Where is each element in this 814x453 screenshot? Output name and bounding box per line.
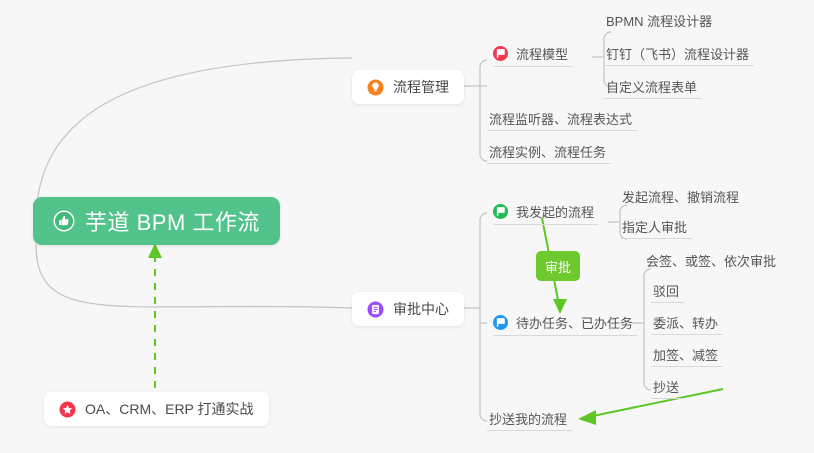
leaf-label: 驳回: [653, 281, 679, 300]
leaf-countersign[interactable]: 会签、或签、依次审批: [644, 248, 781, 273]
bracket-approval-center: [480, 213, 487, 421]
mindmap-canvas: 芋道 BPM 工作流 流程管理 流程模型 BPMN 流程设计器 钉钉（飞书）流程…: [0, 0, 814, 453]
branch-approval-center[interactable]: 审批中心: [352, 292, 464, 326]
leaf-label: 抄送: [653, 377, 679, 396]
integration-card-label: OA、CRM、ERP 打通实战: [85, 399, 254, 419]
node-flow-model[interactable]: 流程模型: [493, 41, 572, 67]
branch-process-management[interactable]: 流程管理: [352, 70, 464, 104]
integration-card[interactable]: OA、CRM、ERP 打通实战: [44, 392, 269, 426]
leaf-bpmn-designer[interactable]: BPMN 流程设计器: [604, 8, 717, 33]
lightbulb-icon: [367, 79, 384, 96]
leaf-instance-task[interactable]: 流程实例、流程任务: [487, 139, 611, 164]
leaf-label: 会签、或签、依次审批: [646, 251, 776, 270]
star-icon: [59, 401, 76, 418]
integration-arrowhead: [148, 243, 162, 258]
leaf-listener-expression[interactable]: 流程监听器、流程表达式: [487, 106, 637, 131]
leaf-label: 钉钉（飞书）流程设计器: [606, 44, 749, 63]
document-icon: [367, 301, 384, 318]
bracket-todo-tasks: [644, 269, 651, 390]
root-node[interactable]: 芋道 BPM 工作流: [33, 197, 280, 245]
node-label: 我发起的流程: [516, 202, 594, 221]
leaf-label: BPMN 流程设计器: [606, 11, 712, 30]
leaf-label: 自定义流程表单: [606, 77, 697, 96]
leaf-label: 指定人审批: [622, 217, 687, 236]
branch-label: 审批中心: [393, 299, 449, 319]
leaf-assignee-approval[interactable]: 指定人审批: [620, 214, 692, 239]
leaf-label: 抄送我的流程: [489, 409, 567, 428]
leaf-label: 发起流程、撤销流程: [622, 187, 739, 206]
flag-icon: [493, 315, 508, 330]
approval-tag-label: 审批: [545, 257, 571, 276]
bracket-process-management: [480, 60, 487, 161]
flag-icon: [493, 46, 508, 61]
node-label: 待办任务、已办任务: [516, 313, 633, 332]
flag-icon: [493, 204, 508, 219]
leaf-reject[interactable]: 驳回: [651, 278, 684, 303]
leaf-add-remove-sign[interactable]: 加签、减签: [651, 342, 723, 367]
thumbs-up-icon: [53, 210, 75, 232]
leaf-cc-to-me-processes[interactable]: 抄送我的流程: [487, 406, 572, 431]
leaf-carbon-copy[interactable]: 抄送: [651, 374, 684, 399]
leaf-label: 加签、减签: [653, 345, 718, 364]
leaf-start-cancel-process[interactable]: 发起流程、撤销流程: [620, 184, 744, 209]
leaf-label: 委派、转办: [653, 313, 718, 332]
leaf-delegate-transfer[interactable]: 委派、转办: [651, 310, 723, 335]
approval-tag[interactable]: 审批: [536, 251, 580, 281]
leaf-label: 流程监听器、流程表达式: [489, 109, 632, 128]
leaf-label: 流程实例、流程任务: [489, 142, 606, 161]
node-my-started-processes[interactable]: 我发起的流程: [493, 199, 598, 225]
node-todo-done-tasks[interactable]: 待办任务、已办任务: [493, 310, 637, 336]
link-root-to-approval-center: [36, 244, 352, 308]
node-label: 流程模型: [516, 44, 568, 63]
carboncopy-arrowhead: [578, 410, 596, 425]
branch-label: 流程管理: [393, 77, 449, 97]
root-label: 芋道 BPM 工作流: [85, 205, 260, 237]
leaf-dingtalk-designer[interactable]: 钉钉（飞书）流程设计器: [604, 41, 754, 66]
leaf-custom-form[interactable]: 自定义流程表单: [604, 74, 702, 99]
